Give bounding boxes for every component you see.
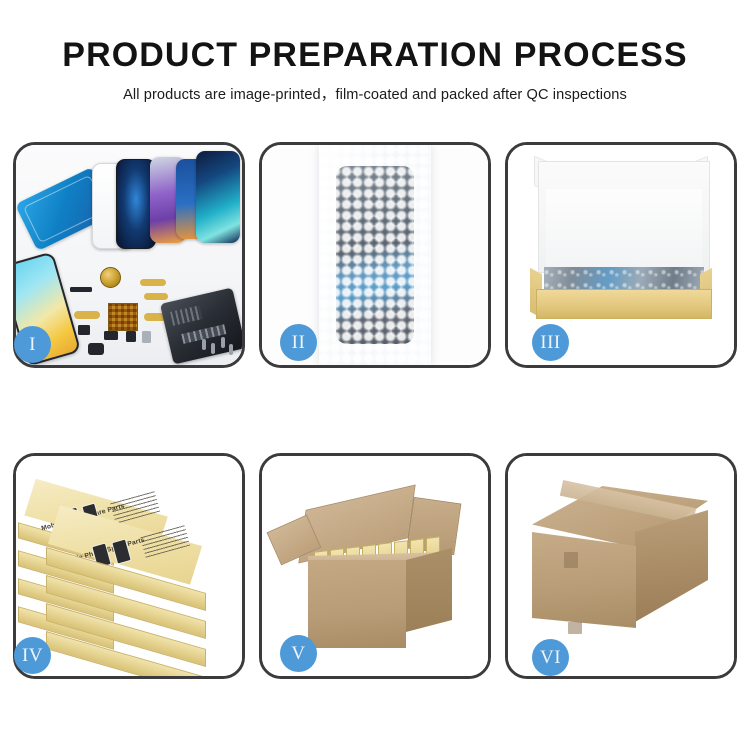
part-earpiece [70, 287, 92, 292]
phone-screen-teal [196, 151, 240, 243]
bubble-rings [319, 145, 431, 365]
part-flex-cable-2 [144, 293, 168, 300]
step-badge-1: I [14, 326, 51, 363]
step-4-image: Mobile Phone Spare Parts Mobile Phone Sp… [16, 456, 242, 676]
step-badge-5: V [280, 635, 317, 672]
step-1-image [16, 145, 242, 365]
header: PRODUCT PREPARATION PROCESS All products… [0, 36, 750, 104]
page-subtitle: All products are image-printed，film-coat… [0, 83, 750, 104]
process-step-panel-4: Mobile Phone Spare Parts Mobile Phone Sp… [13, 453, 245, 679]
part-connector-1 [78, 325, 90, 335]
product-preparation-infographic: PRODUCT PREPARATION PROCESS All products… [0, 0, 750, 750]
process-step-panel-6: VI Sealed and taped shipping carton [505, 453, 737, 679]
part-flex-cable-3 [74, 311, 100, 319]
step-badge-6: VI [532, 639, 569, 676]
part-speaker [142, 331, 151, 343]
process-step-panel-1: I Phone LCD screens and spare parts laid… [13, 142, 245, 368]
process-step-panel-5: V Retail boxes packed into shipping cart… [259, 453, 491, 679]
step-badge-2: II [280, 324, 317, 361]
screw [229, 344, 233, 355]
carton-front-panel [308, 560, 406, 648]
screw [211, 343, 215, 354]
mailer-foam-lining [546, 189, 702, 271]
process-step-grid: I Phone LCD screens and spare parts laid… [13, 142, 737, 679]
carton-tab-upper [564, 552, 578, 568]
process-step-panel-2: II Screen sealed in bubble wrap [259, 142, 491, 368]
part-chip-array [108, 303, 138, 331]
step-badge-3: III [532, 324, 569, 361]
mailer-front-wall [536, 289, 712, 319]
part-battery-tab [88, 343, 104, 355]
screw-set [202, 337, 236, 359]
carton-side-panel [406, 548, 452, 632]
part-vibrator-coil [100, 267, 121, 288]
screw [202, 339, 206, 350]
part-connector-2 [104, 331, 118, 340]
step-badge-4: IV [14, 637, 51, 674]
screw [221, 337, 225, 348]
part-flex-cable-1 [140, 279, 166, 286]
part-camera-module [126, 331, 136, 342]
carton-tab-lower [568, 622, 582, 634]
process-step-panel-3: III Wrapped item placed in foam-lined kr… [505, 142, 737, 368]
sealed-carton-front [532, 532, 636, 628]
retail-box-stack: Mobile Phone Spare Parts Mobile Phone Sp… [16, 478, 242, 674]
page-title: PRODUCT PREPARATION PROCESS [0, 36, 750, 74]
